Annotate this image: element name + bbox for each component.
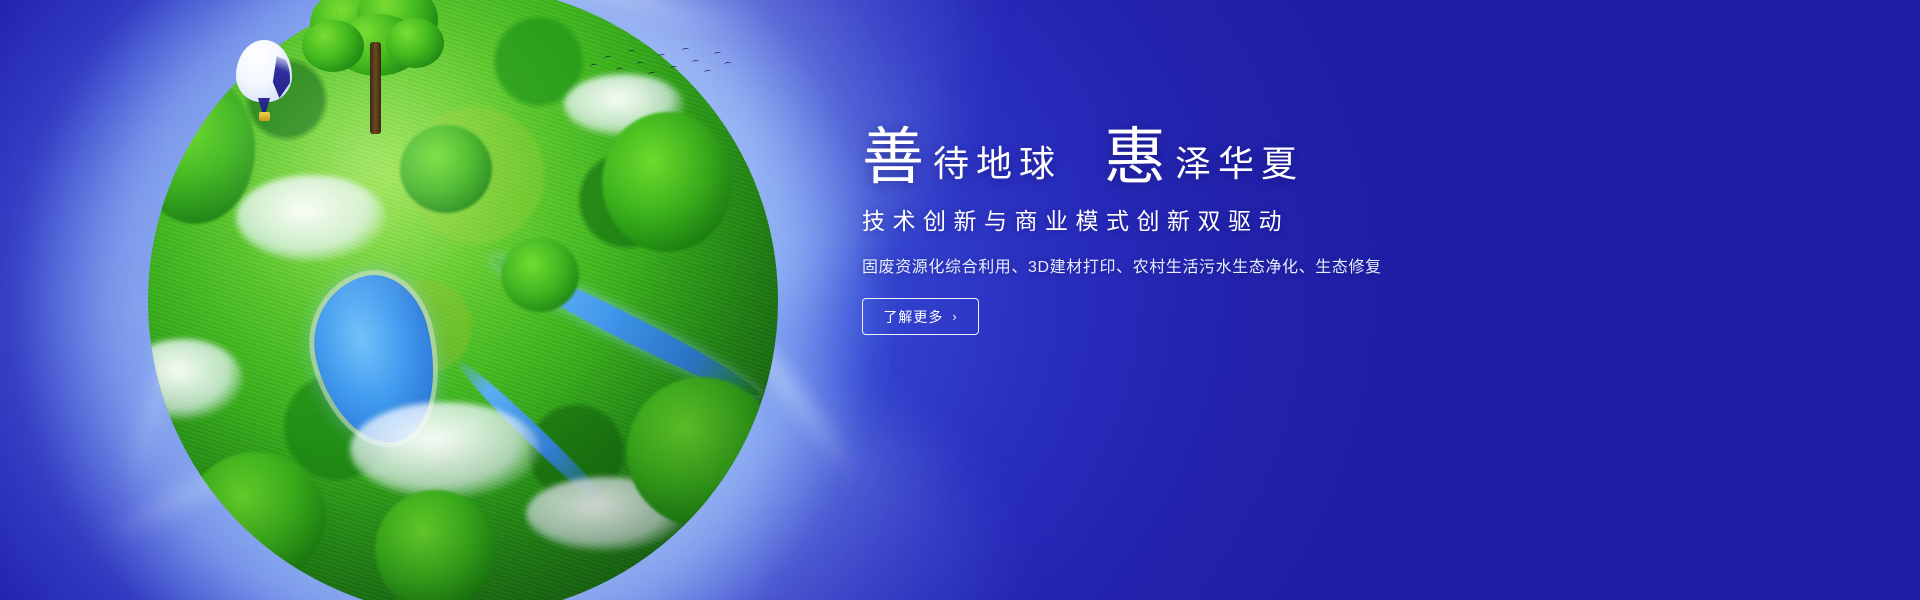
forest-patch-icon [375,490,495,600]
forest-patch-icon [602,112,732,252]
headline-part1-secondary: 待地球 [933,147,1062,188]
forest-patch-icon [400,125,492,213]
headline-part2-secondary: 泽华夏 [1175,147,1304,188]
flock-of-birds-icon [588,42,728,88]
hero-banner: 善 待地球 惠 泽华夏 技术创新与商业模式创新双驱动 固废资源化综合利用、3D建… [0,0,1920,600]
forest-patch-icon [627,377,777,527]
cloud-icon [148,339,243,419]
page-title: 善 待地球 惠 泽华夏 [862,126,1562,188]
cloud-icon [526,477,686,551]
cloud-icon [236,175,386,261]
hero-description: 固废资源化综合利用、3D建材打印、农村生活污水生态净化、生态修复 [862,253,1562,277]
chevron-right-icon: › [952,309,957,324]
headline-part1-primary: 善 [862,126,925,188]
forest-patch-icon [186,452,326,582]
headline-part2-primary: 惠 [1104,126,1167,188]
lake-icon [299,264,452,455]
hot-air-balloon-icon [236,40,292,126]
forest-patch-icon [501,238,579,312]
cloud-icon [350,402,540,498]
learn-more-label: 了解更多 [883,307,943,327]
river-icon [450,353,621,519]
hero-content: 善 待地球 惠 泽华夏 技术创新与商业模式创新双驱动 固废资源化综合利用、3D建… [862,126,1562,335]
hero-subtitle: 技术创新与商业模式创新双驱动 [862,202,1562,236]
learn-more-button[interactable]: 了解更多 › [862,298,979,335]
river-icon [486,247,765,406]
